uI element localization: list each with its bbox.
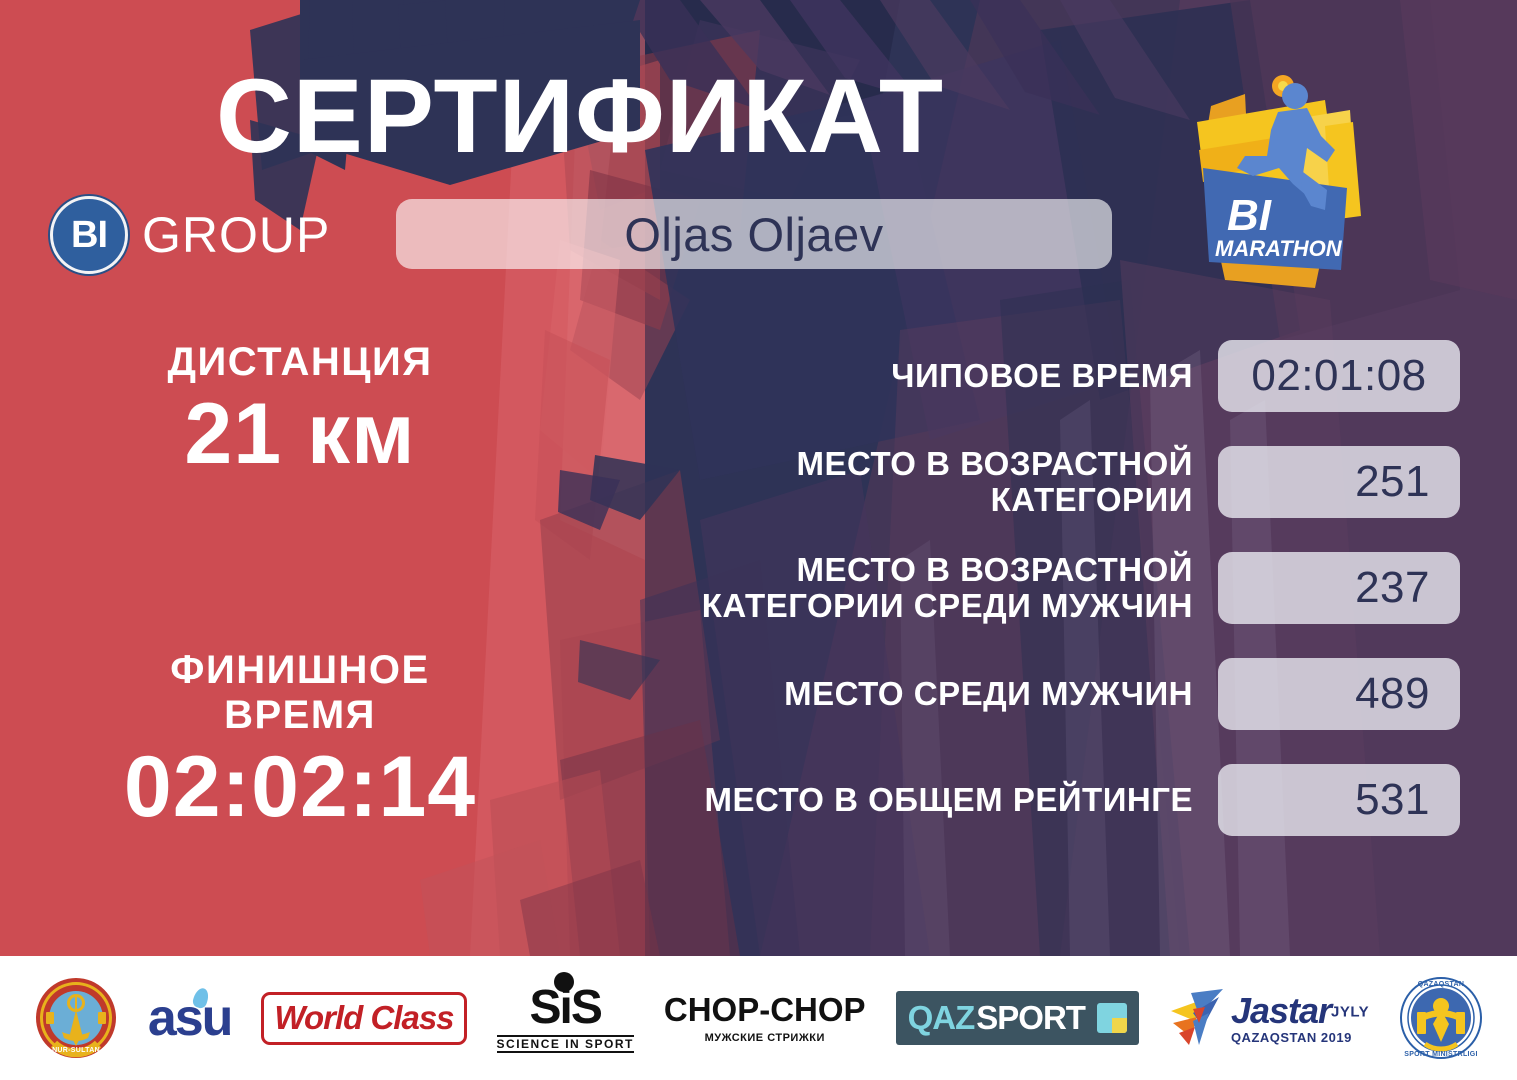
sponsor-asu: asu <box>148 992 232 1044</box>
stat-value: 237 <box>1355 563 1430 613</box>
svg-text:NUR-SULTAN: NUR-SULTAN <box>52 1047 100 1054</box>
svg-text:QAZAQSTAN: QAZAQSTAN <box>1418 981 1465 988</box>
stat-row: МЕСТО В ВОЗРАСТНОЙ КАТЕГОРИИ 251 <box>600 446 1460 518</box>
world-class-wordmark: World Class <box>261 992 466 1045</box>
bi-group-logo: BI GROUP <box>50 196 330 274</box>
stat-value-pill: 489 <box>1218 658 1460 730</box>
sponsor-sis: SiS SCIENCE IN SPORT <box>497 984 634 1053</box>
asu-text: asu <box>148 989 232 1047</box>
bi-marathon-logo: BI MARATHON <box>1175 64 1390 304</box>
bi-marathon-bi-text: BI <box>1227 191 1272 240</box>
asu-wordmark: asu <box>148 992 232 1044</box>
stat-value-pill: 237 <box>1218 552 1460 624</box>
participant-name-field: Oljas Oljaev <box>396 199 1112 269</box>
stat-value-pill: 251 <box>1218 446 1460 518</box>
stat-row: МЕСТО СРЕДИ МУЖЧИН 489 <box>600 658 1460 730</box>
distance-block: ДИСТАНЦИЯ 21 км <box>60 340 540 479</box>
sponsor-qazsport: QAZ SPORT <box>896 991 1139 1045</box>
jastar-jyly-text: JYLY <box>1331 1003 1369 1020</box>
sponsor-bar: NUR-SULTAN asu World Class SiS SCIENCE <box>0 956 1517 1080</box>
sis-text-wrap: SiS <box>530 984 601 1032</box>
sis-dot-icon <box>554 972 574 992</box>
finish-time-value: 02:02:14 <box>60 742 540 832</box>
qazsport-wordmark: QAZ SPORT <box>896 991 1139 1045</box>
stats-list: ЧИПОВОЕ ВРЕМЯ 02:01:08 МЕСТО В ВОЗРАСТНО… <box>600 340 1460 870</box>
stat-label: МЕСТО В ВОЗРАСТНОЙ КАТЕГОРИИ <box>600 446 1218 519</box>
sponsor-ministry-sport: QAZAQSTAN SPORT MINISTRLIGI <box>1399 976 1483 1060</box>
stat-value: 489 <box>1355 669 1430 719</box>
stat-row: ЧИПОВОЕ ВРЕМЯ 02:01:08 <box>600 340 1460 412</box>
chop-chop-wordmark: CHOP-CHOP МУЖСКИЕ СТРИЖКИ <box>664 993 866 1044</box>
sis-wordmark: SiS SCIENCE IN SPORT <box>497 984 634 1053</box>
bi-badge-icon: BI <box>50 196 128 274</box>
stat-row: МЕСТО В ОБЩЕМ РЕЙТИНГЕ 531 <box>600 764 1460 836</box>
participant-name: Oljas Oljaev <box>624 207 883 262</box>
ministry-sport-seal-icon: QAZAQSTAN SPORT MINISTRLIGI <box>1399 976 1483 1060</box>
stat-value-pill: 02:01:08 <box>1218 340 1460 412</box>
bi-marathon-word-text: MARATHON <box>1215 236 1343 261</box>
stat-value: 02:01:08 <box>1251 351 1426 401</box>
world-class-text: World Class <box>274 999 453 1036</box>
stat-label: МЕСТО В ВОЗРАСТНОЙ КАТЕГОРИИ СРЕДИ МУЖЧИ… <box>600 552 1218 625</box>
qazsport-square-icon <box>1097 1003 1127 1033</box>
stat-value: 251 <box>1355 457 1430 507</box>
sponsor-world-class: World Class <box>261 992 466 1045</box>
jastar-subtext: QAZAQSTAN 2019 <box>1231 1031 1369 1044</box>
jastar-bird-icon <box>1169 987 1225 1049</box>
sponsor-nur-sultan: NUR-SULTAN <box>34 976 118 1060</box>
finish-time-label-line1: ФИНИШНОЕ <box>60 648 540 693</box>
sponsor-jastar: JastarJYLY QAZAQSTAN 2019 <box>1169 987 1369 1049</box>
stat-value-pill: 531 <box>1218 764 1460 836</box>
stat-value: 531 <box>1355 775 1430 825</box>
stat-row: МЕСТО В ВОЗРАСТНОЙ КАТЕГОРИИ СРЕДИ МУЖЧИ… <box>600 552 1460 624</box>
distance-label: ДИСТАНЦИЯ <box>60 340 540 385</box>
qazsport-text-qaz: QAZ <box>908 999 975 1037</box>
distance-value: 21 км <box>60 389 540 479</box>
qazsport-text-sport: SPORT <box>976 999 1085 1037</box>
nur-sultan-emblem-icon: NUR-SULTAN <box>34 976 118 1060</box>
stat-label: МЕСТО В ОБЩЕМ РЕЙТИНГЕ <box>600 782 1218 818</box>
sponsor-chop-chop: CHOP-CHOP МУЖСКИЕ СТРИЖКИ <box>664 993 866 1044</box>
svg-text:SPORT MINISTRLIGI: SPORT MINISTRLIGI <box>1404 1051 1478 1058</box>
bi-group-label: GROUP <box>142 206 330 264</box>
chop-chop-tagline: МУЖСКИЕ СТРИЖКИ <box>664 1033 866 1044</box>
stat-label: ЧИПОВОЕ ВРЕМЯ <box>600 358 1218 394</box>
jastar-text: Jastar <box>1231 990 1331 1031</box>
page-title: СЕРТИФИКАТ <box>0 62 1160 172</box>
jastar-wordmark: JastarJYLY QAZAQSTAN 2019 <box>1169 987 1369 1049</box>
stat-label: МЕСТО СРЕДИ МУЖЧИН <box>600 676 1218 712</box>
finish-time-label-line2: ВРЕМЯ <box>60 693 540 738</box>
finish-time-block: ФИНИШНОЕ ВРЕМЯ 02:02:14 <box>60 648 540 832</box>
sis-tagline: SCIENCE IN SPORT <box>497 1035 634 1053</box>
chop-chop-text: CHOP-CHOP <box>664 993 866 1026</box>
certificate: СЕРТИФИКАТ BI GROUP Oljas Oljaev <box>0 0 1517 1080</box>
